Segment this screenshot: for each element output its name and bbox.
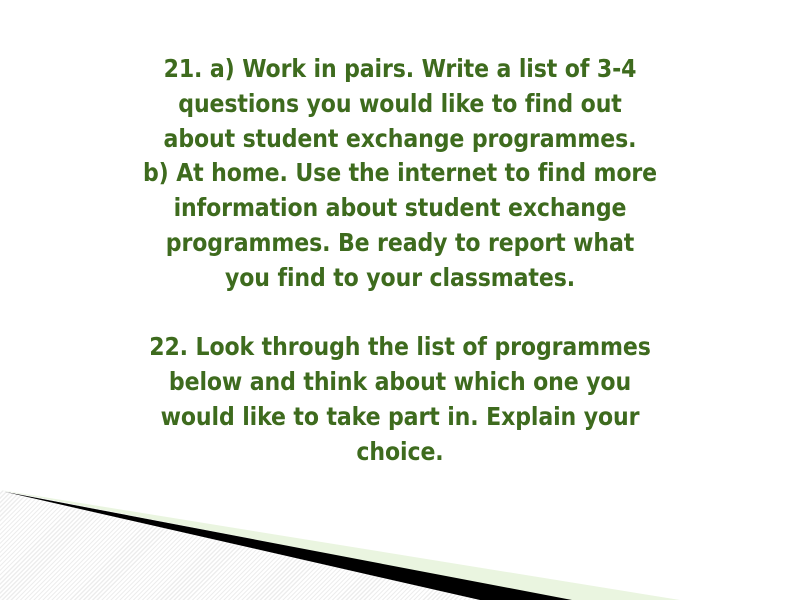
diagonal-hatch-wedge [0, 490, 800, 600]
corner-decoration [0, 490, 800, 600]
slide-canvas: 21. a) Work in pairs. Write a list of 3-… [0, 0, 800, 600]
pale-green-wedge [0, 490, 800, 600]
task-21-line-4: b) At home. Use the internet to find mor… [143, 158, 657, 187]
task-21-line-7: you find to your classmates. [225, 263, 575, 292]
slide-body-text: 21. a) Work in pairs. Write a list of 3-… [50, 52, 750, 470]
task-22-line-2: below and think about which one you [169, 367, 631, 396]
task-22-line-1: 22. Look through the list of programmes [149, 332, 651, 361]
paragraph-task-22: 22. Look through the list of programmes … [50, 330, 750, 469]
task-22-line-4: choice. [356, 437, 443, 466]
paragraph-spacer [50, 296, 750, 331]
task-22-line-3: would like to take part in. Explain your [161, 402, 640, 431]
task-21-line-5: information about student exchange [174, 193, 627, 222]
task-21-line-1: 21. a) Work in pairs. Write a list of 3-… [164, 54, 637, 83]
task-21-line-2: questions you would like to find out [178, 89, 621, 118]
paragraph-task-21: 21. a) Work in pairs. Write a list of 3-… [50, 52, 750, 296]
black-wedge [0, 490, 800, 600]
task-21-line-6: programmes. Be ready to report what [166, 228, 634, 257]
task-21-line-3: about student exchange programmes. [164, 124, 637, 153]
